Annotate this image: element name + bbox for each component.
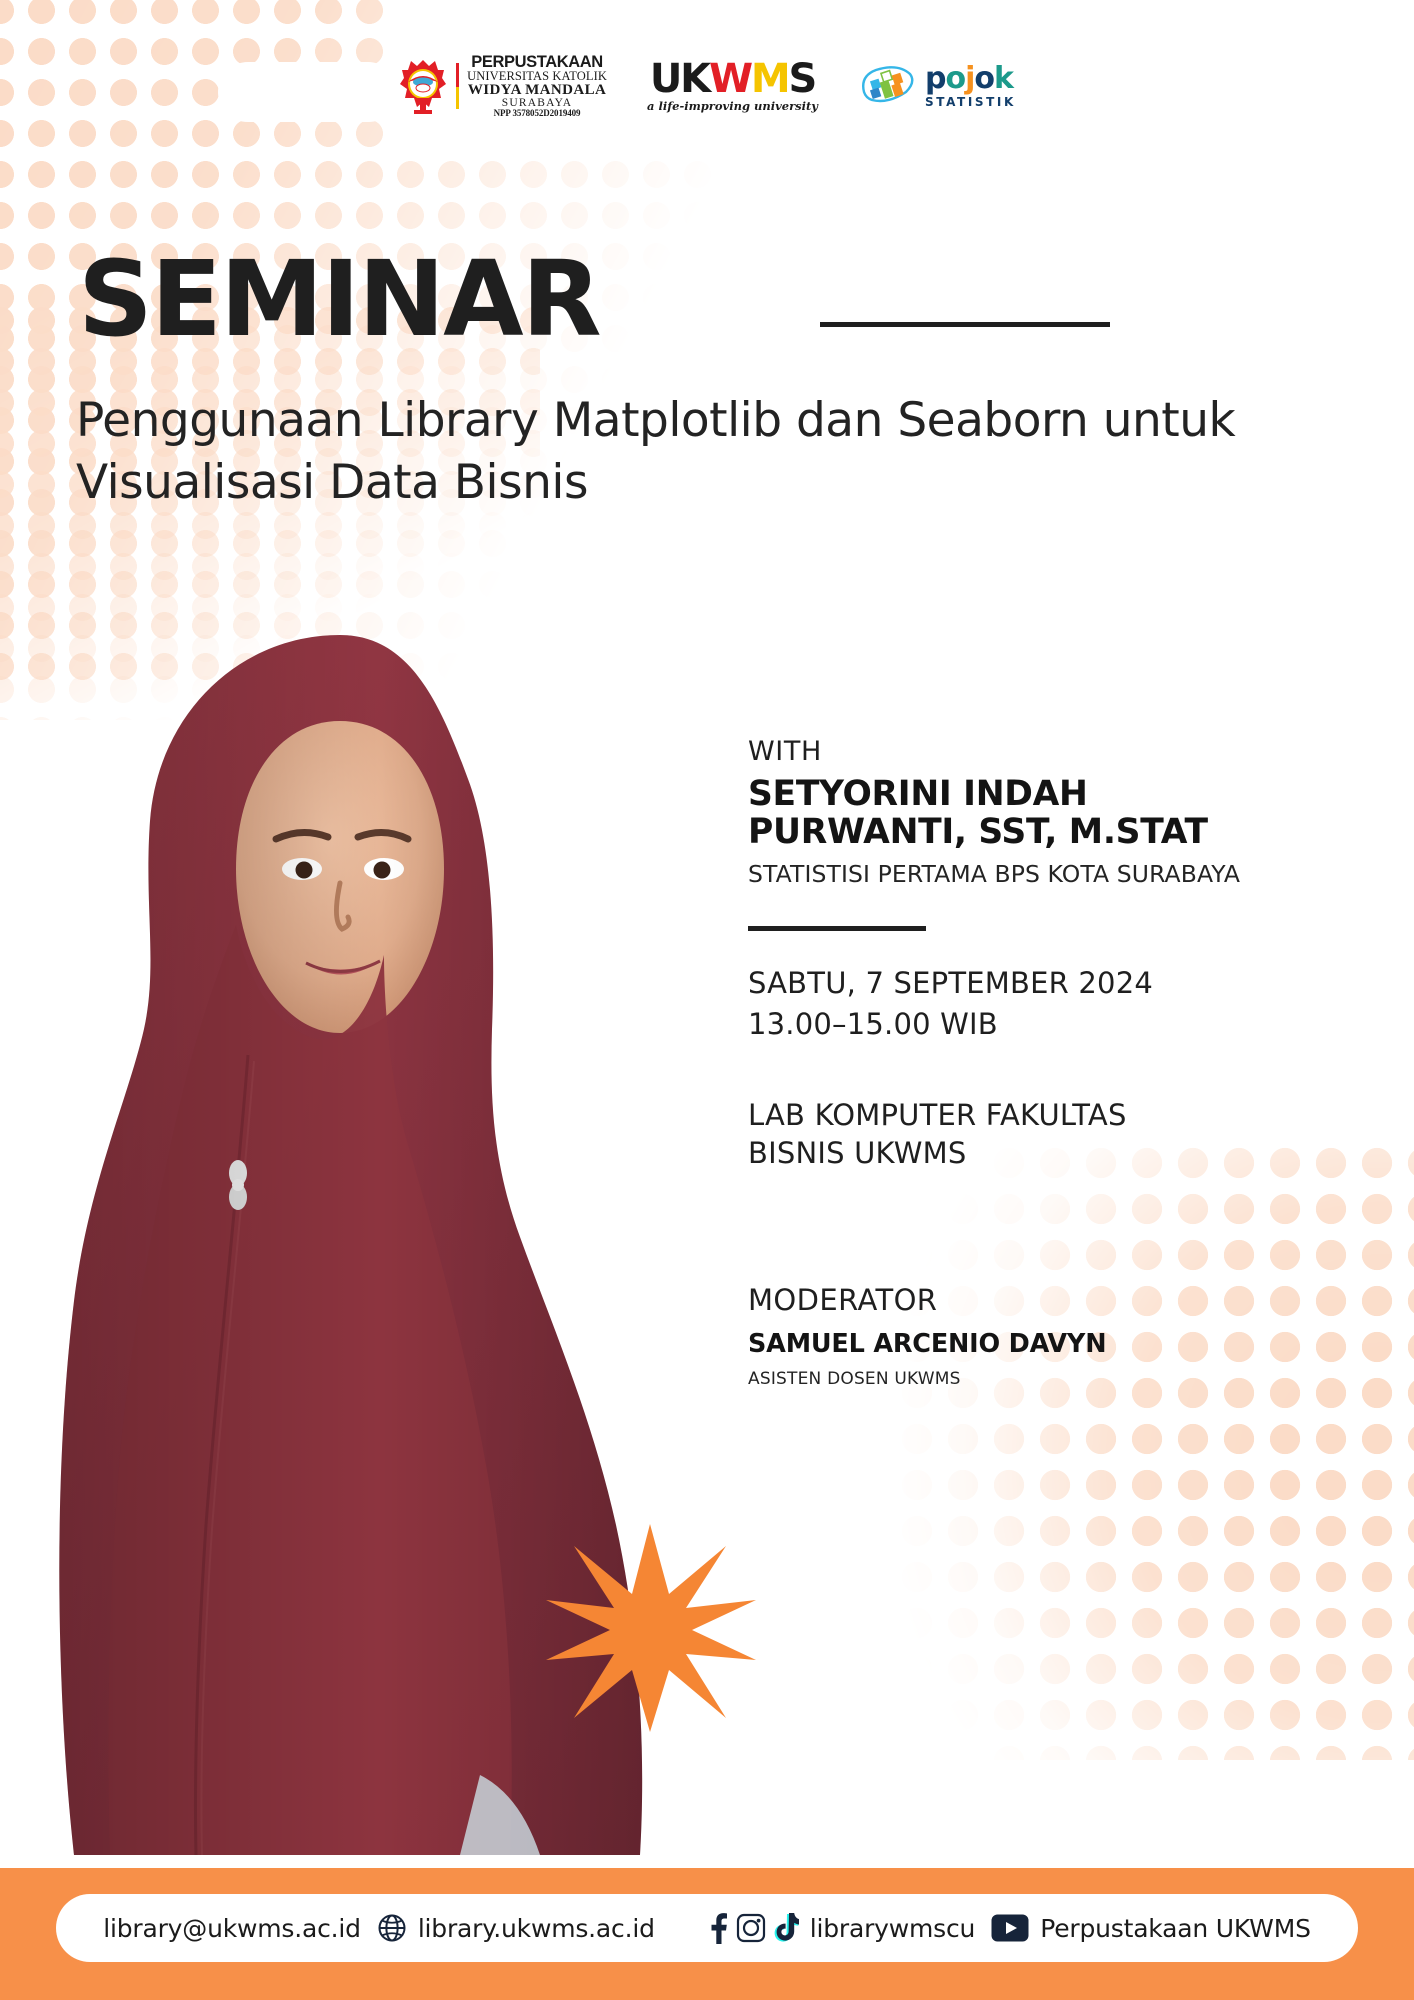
contact-pill: library@ukwms.ac.id library.ukwms.ac.id <box>56 1894 1358 1962</box>
pojok-o2: o <box>974 61 994 96</box>
pojok-statistik-logo: pojok STATISTIK <box>858 58 1016 114</box>
pojok-k: k <box>994 61 1013 96</box>
ukwms-crest-icon <box>398 58 448 114</box>
youtube-icon[interactable] <box>991 1914 1029 1942</box>
social-handle-text: librarywmscu <box>810 1914 975 1943</box>
ukwms-tagline: a life-improving university <box>647 101 818 113</box>
event-time: 13.00–15.00 WIB <box>748 1004 1348 1045</box>
event-date: SABTU, 7 SEPTEMBER 2024 <box>748 963 1348 1004</box>
youtube-item[interactable]: Perpustakaan UKWMS <box>991 1914 1311 1943</box>
library-logo-line1: PERPUSTAKAAN <box>467 54 607 71</box>
website-item[interactable]: library.ukwms.ac.id <box>377 1913 655 1943</box>
starburst-icon <box>540 1520 760 1735</box>
page-subtitle: Penggunaan Library Matplotlib dan Seabor… <box>76 390 1316 514</box>
ukwms-m: M <box>751 56 789 102</box>
event-venue: LAB KOMPUTER FAKULTAS BISNIS UKWMS <box>748 1097 1348 1172</box>
tiktok-icon[interactable] <box>773 1913 799 1943</box>
title-divider-rule <box>820 322 1110 327</box>
ukwms-uk: UK <box>650 56 709 102</box>
facebook-icon[interactable] <box>707 1912 729 1944</box>
seminar-poster: PERPUSTAKAAN UNIVERSITAS KATOLIK WIDYA M… <box>0 0 1414 2000</box>
moderator-role: ASISTEN DOSEN UKWMS <box>748 1369 1348 1389</box>
youtube-channel-text: Perpustakaan UKWMS <box>1040 1914 1311 1943</box>
contact-footer: library@ukwms.ac.id library.ukwms.ac.id <box>0 1868 1414 2000</box>
email-text: library@ukwms.ac.id <box>103 1914 361 1943</box>
pojok-p: p <box>925 61 945 96</box>
event-details: WITH SETYORINI INDAH PURWANTI, SST, M.ST… <box>748 735 1348 1389</box>
globe-icon <box>377 1913 407 1943</box>
with-label: WITH <box>748 735 1348 769</box>
library-logo-line5: NPP 3578052D2019409 <box>467 109 607 118</box>
moderator-name: SAMUEL ARCENIO DAVYN <box>748 1329 1348 1359</box>
social-item[interactable]: librarywmscu <box>707 1912 975 1944</box>
ukwms-w: W <box>709 56 751 102</box>
website-text: library.ukwms.ac.id <box>418 1914 655 1943</box>
perpustakaan-ukwms-logo: PERPUSTAKAAN UNIVERSITAS KATOLIK WIDYA M… <box>398 54 607 119</box>
ukwms-s: S <box>788 56 815 102</box>
library-logo-line2: UNIVERSITAS KATOLIK <box>467 70 607 83</box>
logo-header: PERPUSTAKAAN UNIVERSITAS KATOLIK WIDYA M… <box>0 52 1414 120</box>
pojok-subtitle: STATISTIK <box>925 96 1016 108</box>
email-item[interactable]: library@ukwms.ac.id <box>103 1914 361 1943</box>
moderator-label: MODERATOR <box>748 1283 1348 1317</box>
pojok-j: j <box>965 61 974 96</box>
logo-divider <box>456 63 459 109</box>
page-title: SEMINAR <box>78 250 600 349</box>
pojok-chart-icon <box>858 58 916 114</box>
instagram-icon[interactable] <box>736 1913 766 1943</box>
speaker-name: SETYORINI INDAH PURWANTI, SST, M.STAT <box>748 775 1348 852</box>
pojok-o1: o <box>945 61 965 96</box>
speaker-role: STATISTISI PERTAMA BPS KOTA SURABAYA <box>748 860 1348 888</box>
library-logo-line3: WIDYA MANDALA <box>467 83 607 98</box>
info-divider-rule <box>748 926 926 931</box>
ukwms-logo: UKWMS a life-improving university <box>647 59 818 113</box>
